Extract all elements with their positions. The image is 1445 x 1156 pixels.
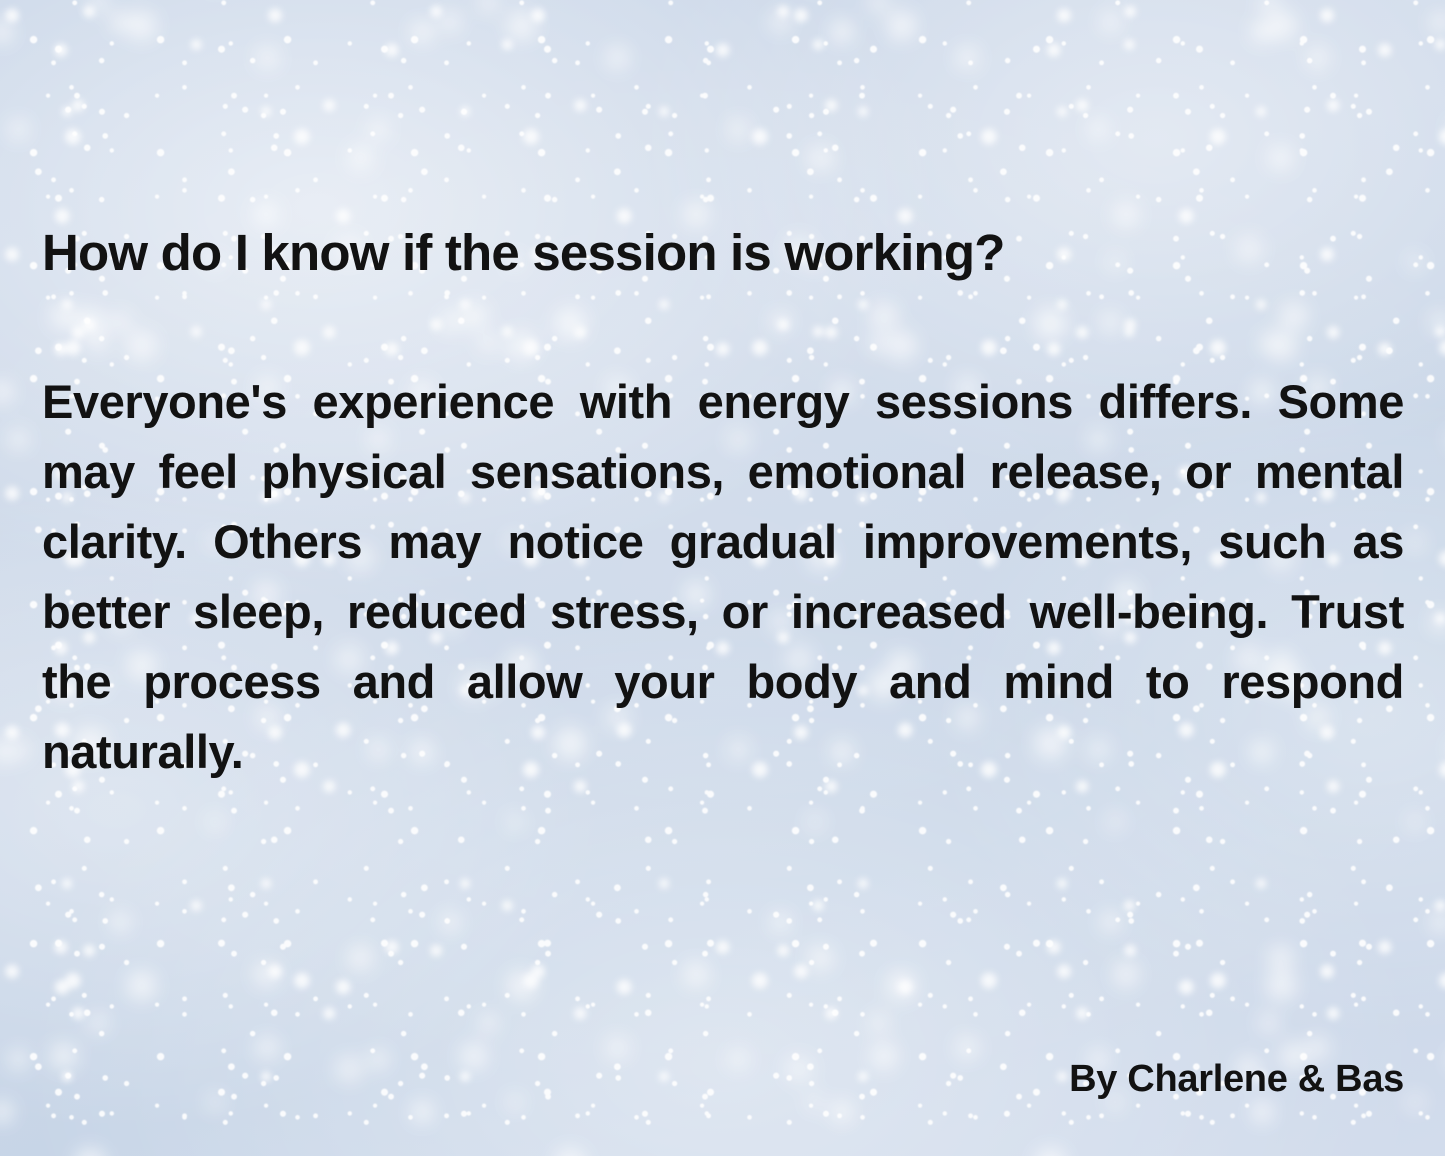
page-title: How do I know if the session is working? [42,222,1404,284]
card-content: How do I know if the session is working?… [42,0,1404,1156]
faq-info-card: How do I know if the session is working?… [0,0,1445,1156]
attribution-byline: By Charlene & Bas [1069,1056,1404,1102]
body-paragraph: Everyone's experience with energy sessio… [42,367,1404,857]
